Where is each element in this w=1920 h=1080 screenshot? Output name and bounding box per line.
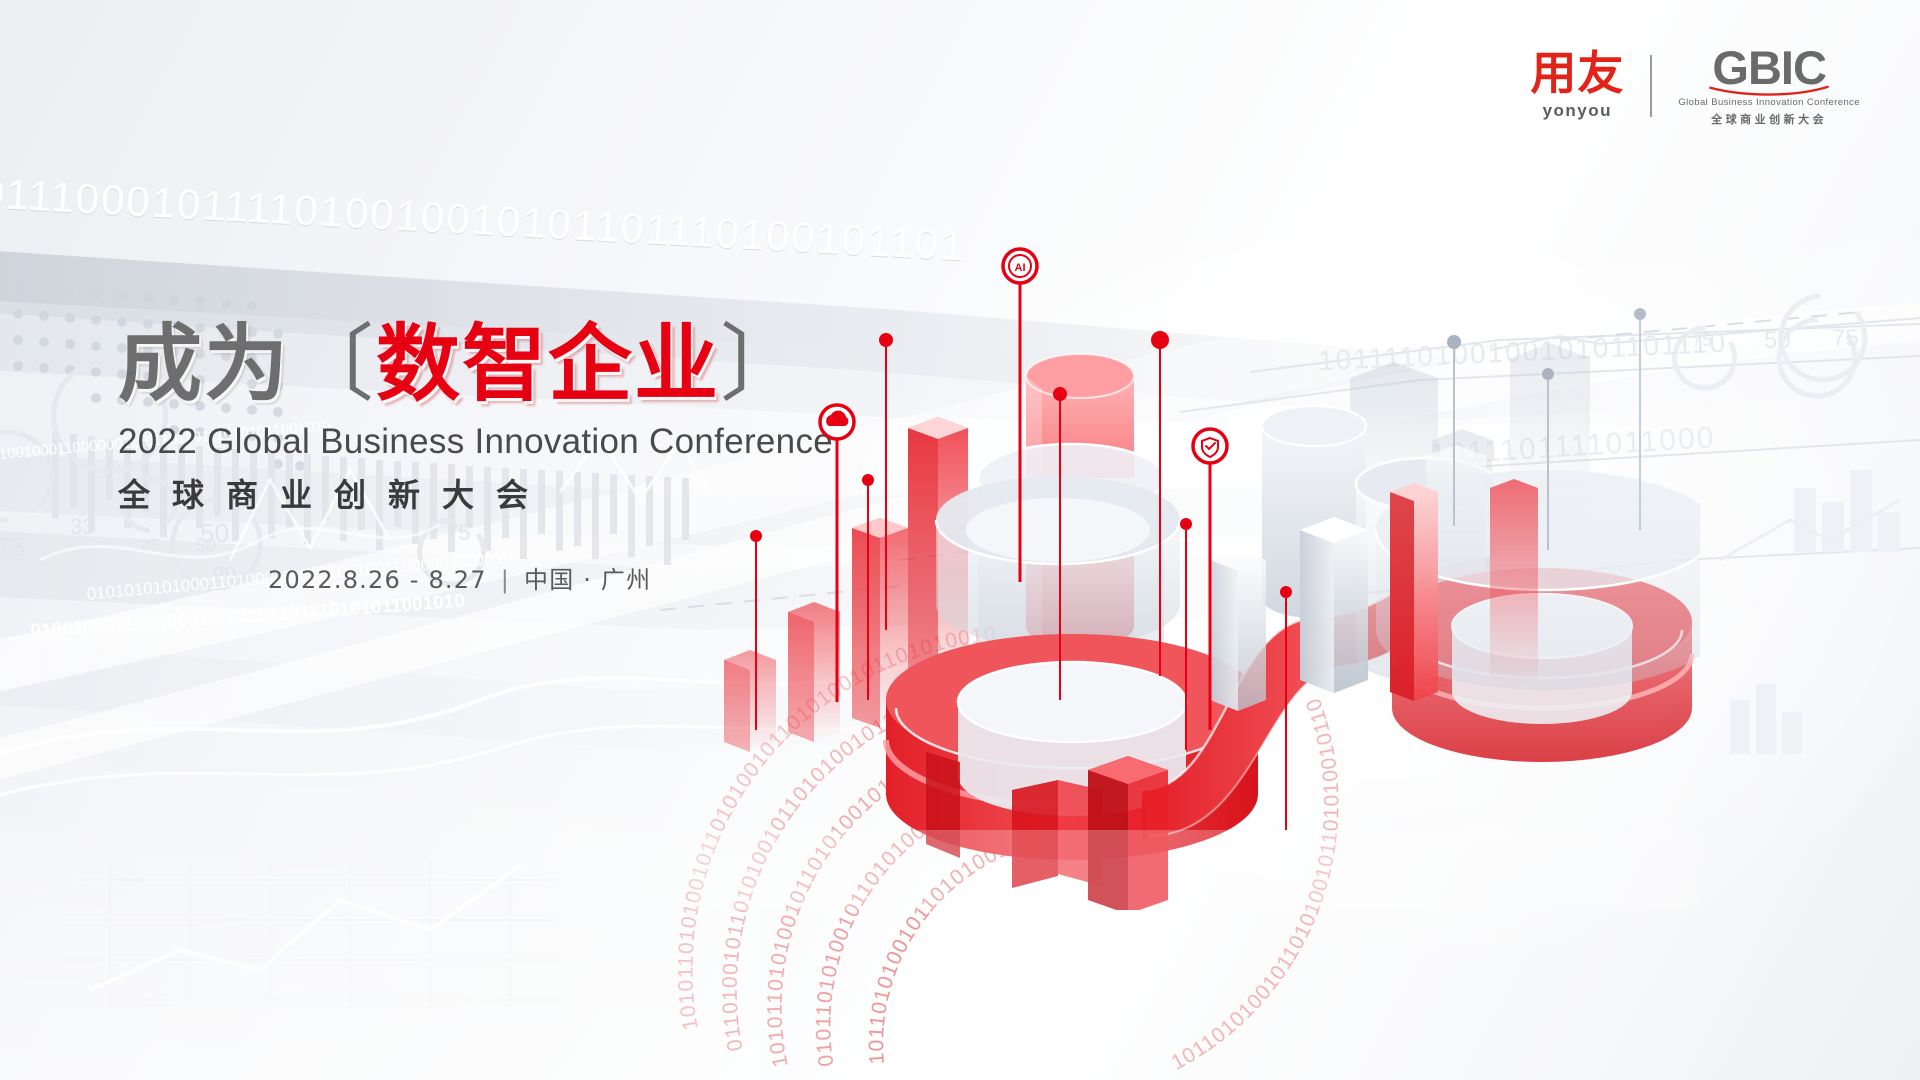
- yonyou-logo: 用友 yonyou: [1530, 50, 1624, 121]
- far-right-red-bar: [1490, 479, 1538, 687]
- ghost-bar-chart: [1730, 470, 1900, 754]
- yonyou-logo-cn: 用友: [1530, 50, 1624, 96]
- gbic-logo-en: Global Business Innovation Conference: [1678, 97, 1860, 108]
- gbic-logo-cn: 全球商业创新大会: [1711, 111, 1827, 127]
- grey-outer-ring-upper: [936, 476, 1180, 648]
- svg-text:75: 75: [1832, 325, 1859, 352]
- right-red-bar: [1390, 483, 1438, 701]
- poster-canvas: 75 33 50 99 25 50 75 75 50 75: [0, 0, 1920, 1080]
- main-title-emphasis: 数智企业: [376, 315, 720, 413]
- event-date: 2022.8.26 - 8.27: [268, 566, 487, 594]
- svg-text:75: 75: [0, 532, 25, 562]
- svg-text:50: 50: [1764, 327, 1791, 354]
- bracket-open: 〔: [290, 315, 376, 413]
- isometric-data-artwork: AI: [690, 230, 1700, 910]
- yonyou-logo-en: yonyou: [1543, 101, 1612, 121]
- gbic-logo: GBIC Global Business Innovation Conferen…: [1678, 44, 1860, 127]
- gbic-wordmark: GBIC: [1712, 44, 1826, 91]
- brand-logo-bar: 用友 yonyou GBIC Global Business Innovatio…: [1530, 44, 1860, 127]
- meta-separator: |: [501, 566, 510, 594]
- main-title-prefix: 成为: [118, 315, 290, 413]
- logo-divider: [1650, 55, 1652, 117]
- ai-pin-label: AI: [1015, 262, 1026, 274]
- event-location: 中国 · 广州: [524, 566, 651, 594]
- svg-text:33: 33: [70, 514, 94, 539]
